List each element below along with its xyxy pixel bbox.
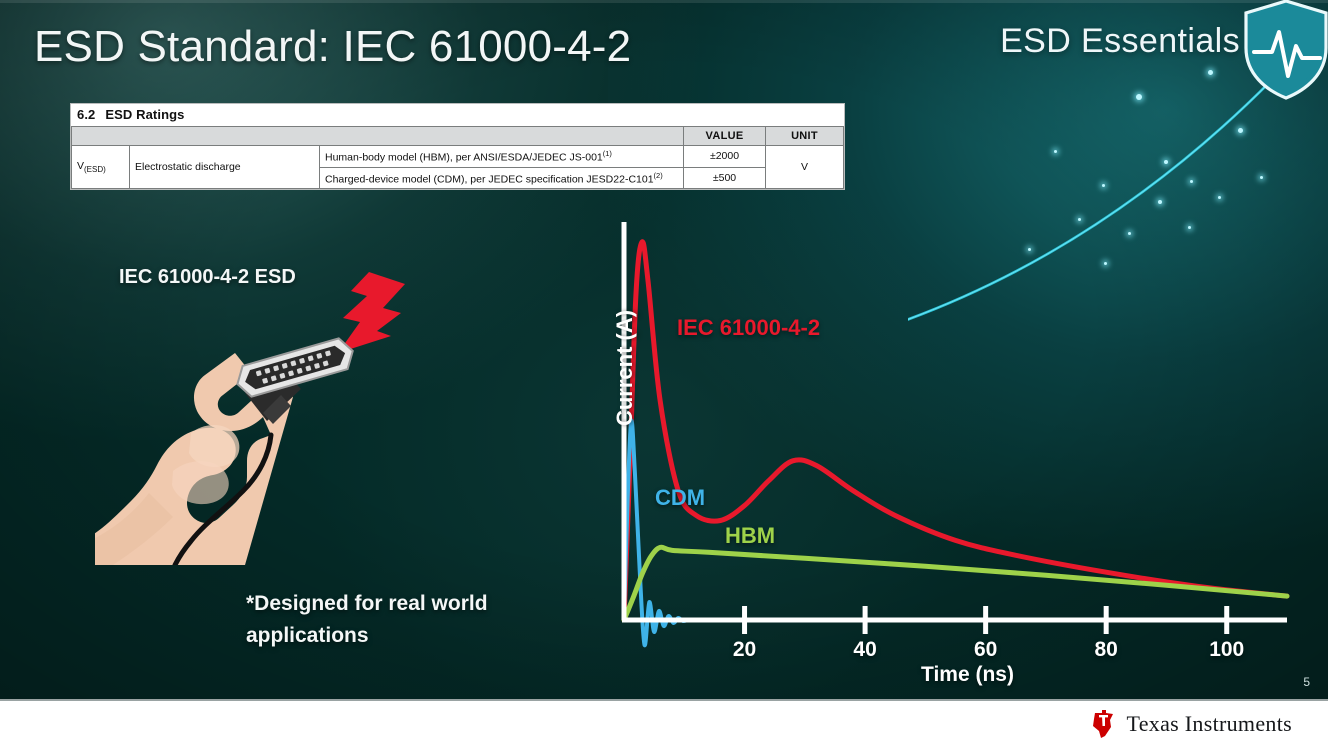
curve-label-cdm: CDM bbox=[655, 485, 705, 511]
x-tick-label-40: 40 bbox=[853, 638, 876, 662]
chart-curves bbox=[624, 242, 1287, 646]
chart-y-axis-label: Current (A) bbox=[612, 310, 638, 426]
esd-ratings-table: 6.2ESD Ratings VALUE UNIT V(ESD) Electro… bbox=[70, 103, 845, 190]
symbol-subscript: (ESD) bbox=[84, 165, 106, 174]
chart-plot-area bbox=[575, 195, 1315, 695]
design-note: *Designed for real world applications bbox=[246, 588, 576, 651]
slide-stage: ESD Standard: IEC 61000-4-2 ESD Essentia… bbox=[0, 0, 1328, 746]
chart-x-axis-label: Time (ns) bbox=[921, 663, 1014, 687]
slide-title: ESD Standard: IEC 61000-4-2 bbox=[34, 22, 631, 72]
x-tick-label-60: 60 bbox=[974, 638, 997, 662]
cell-value-hbm: ±2000 bbox=[684, 146, 766, 168]
table-section-title: ESD Ratings bbox=[105, 107, 184, 122]
x-tick-label-20: 20 bbox=[733, 638, 756, 662]
ti-texas-mark-icon bbox=[1088, 709, 1118, 739]
curve-label-hbm: HBM bbox=[725, 523, 775, 549]
condition-text-cdm: Charged-device model (CDM), per JEDEC sp… bbox=[325, 173, 654, 185]
curve-cdm bbox=[624, 420, 699, 645]
page-number: 5 bbox=[1303, 675, 1310, 689]
header-unit: UNIT bbox=[766, 127, 844, 146]
texas-instruments-logo: Texas Instruments bbox=[1088, 709, 1292, 739]
symbol-base: V bbox=[77, 160, 84, 172]
header-value: VALUE bbox=[684, 127, 766, 146]
cell-parameter: Electrostatic discharge bbox=[130, 146, 320, 189]
esd-waveform-chart: Current (A) Time (ns) 20406080100 IEC 61… bbox=[575, 195, 1315, 695]
ti-logo-text: Texas Instruments bbox=[1127, 711, 1292, 737]
condition-text-hbm: Human-body model (HBM), per ANSI/ESDA/JE… bbox=[325, 152, 603, 164]
hand-connector-illustration bbox=[95, 265, 425, 565]
table-row: V(ESD) Electrostatic discharge Human-bod… bbox=[72, 146, 844, 168]
x-tick-label-80: 80 bbox=[1094, 638, 1117, 662]
cell-unit: V bbox=[766, 146, 844, 189]
footnote-marker-1: (1) bbox=[603, 149, 612, 158]
table-section-number: 6.2 bbox=[77, 107, 95, 122]
cell-condition-cdm: Charged-device model (CDM), per JEDEC sp… bbox=[320, 167, 684, 189]
footnote-marker-2: (2) bbox=[654, 171, 663, 180]
cell-condition-hbm: Human-body model (HBM), per ANSI/ESDA/JE… bbox=[320, 146, 684, 168]
curve-iec-61000-4-2 bbox=[624, 242, 1287, 620]
slide-footer: Texas Instruments bbox=[0, 699, 1328, 746]
cell-symbol: V(ESD) bbox=[72, 146, 130, 189]
table-header-row: VALUE UNIT bbox=[72, 127, 844, 146]
brand-label: ESD Essentials bbox=[1000, 22, 1240, 61]
header-blank bbox=[72, 127, 684, 146]
presentation-slide: ESD Standard: IEC 61000-4-2 ESD Essentia… bbox=[0, 0, 1328, 699]
table-caption: 6.2ESD Ratings bbox=[71, 104, 844, 126]
cell-value-cdm: ±500 bbox=[684, 167, 766, 189]
shield-pulse-icon bbox=[1242, 0, 1328, 104]
x-tick-label-100: 100 bbox=[1209, 638, 1244, 662]
slide-top-edge bbox=[0, 0, 1328, 3]
curve-label-iec: IEC 61000-4-2 bbox=[677, 315, 820, 341]
